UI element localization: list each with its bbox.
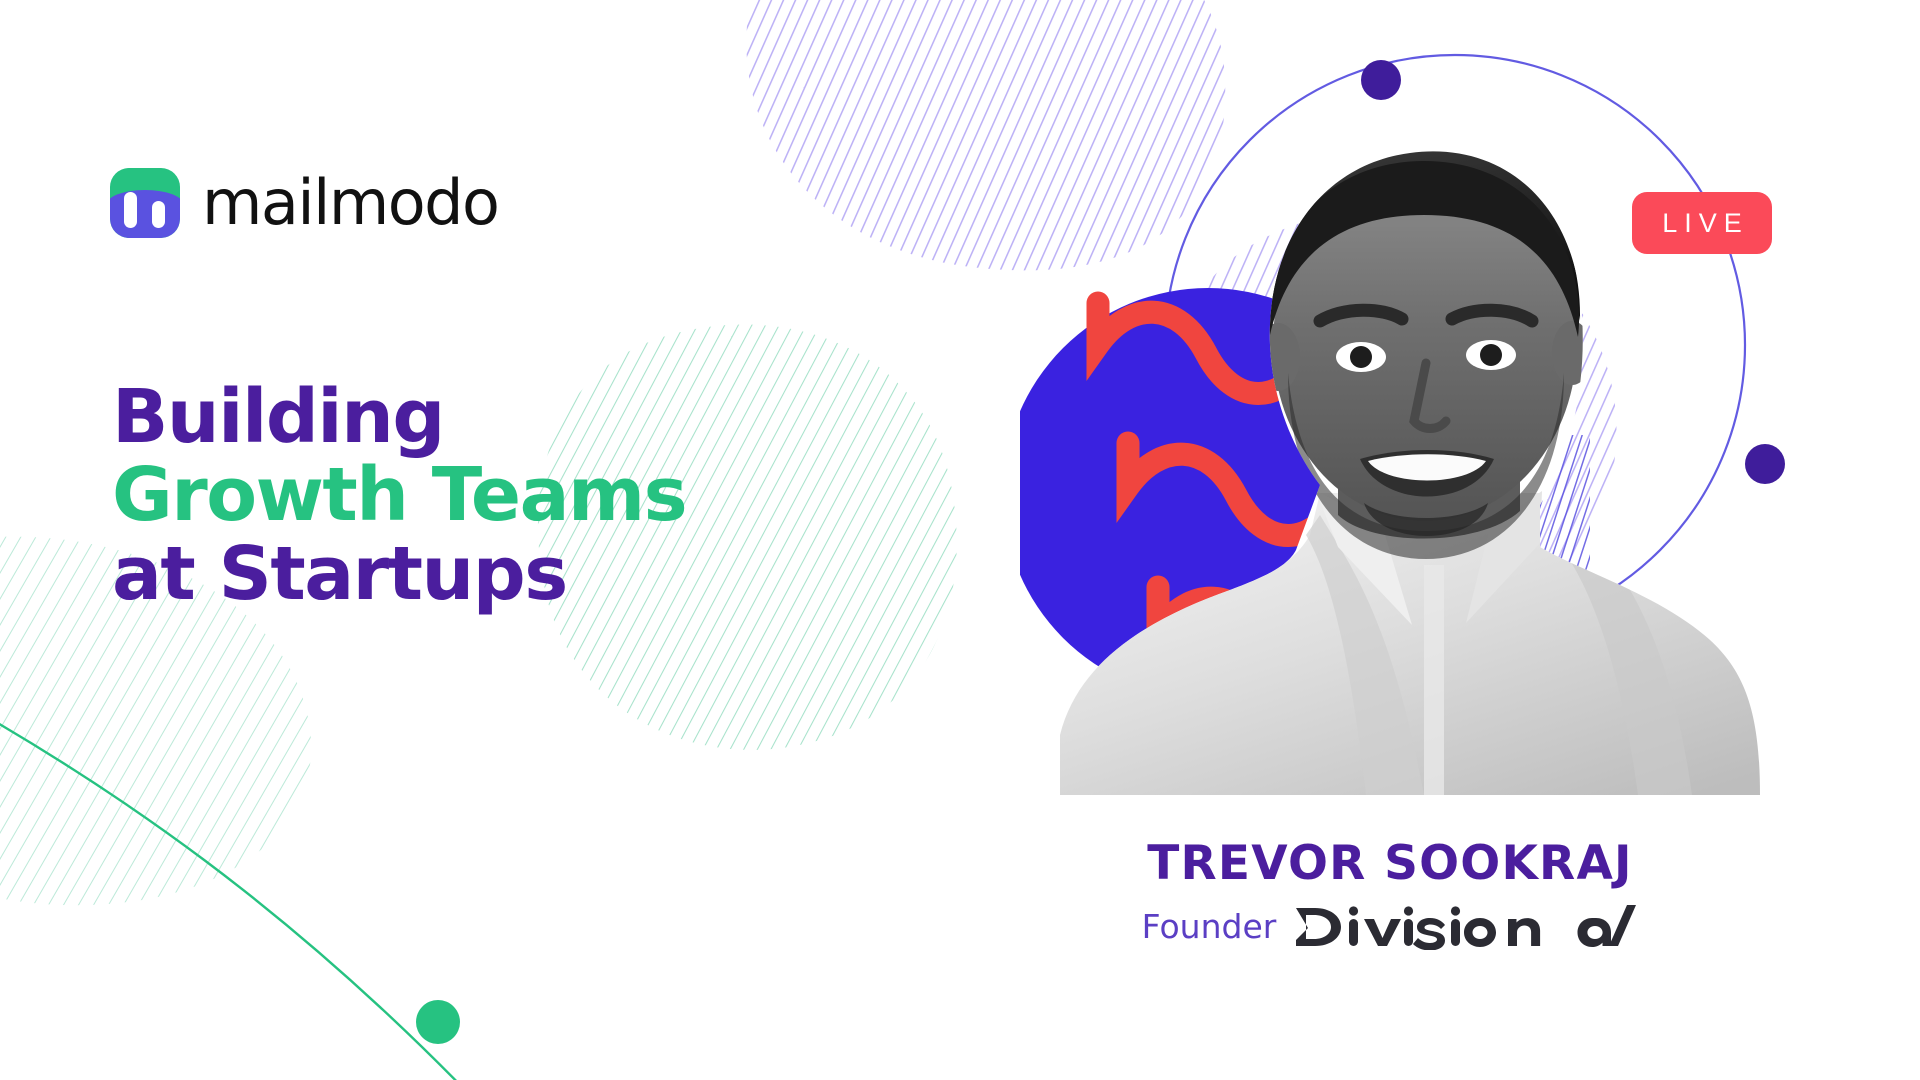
headline-line-1: Building	[112, 378, 932, 456]
live-badge-label: LIVE	[1655, 208, 1749, 239]
divisional-logo-mark-tail	[1506, 904, 1638, 950]
speaker-info: TREVOR SOOKRAJ Founder	[1020, 838, 1760, 950]
divisional-logo	[1294, 904, 1638, 950]
speaker-role: Founder	[1142, 907, 1277, 946]
speaker-role-row: Founder	[1020, 904, 1760, 950]
teal-arc-bottom-left	[0, 690, 470, 1080]
webinar-banner: mailmodo Building Growth Teams at Startu…	[0, 0, 1920, 1080]
purple-dot-top	[1361, 60, 1401, 100]
mailmodo-logo[interactable]: mailmodo	[110, 168, 498, 238]
mailmodo-wordmark: mailmodo	[202, 172, 498, 234]
divisional-logo-mark	[1294, 904, 1506, 950]
headline-line-2: Growth Teams	[112, 456, 932, 534]
headline: Building Growth Teams at Startups	[112, 378, 932, 613]
headline-line-3: at Startups	[112, 535, 932, 613]
mailmodo-logo-icon	[110, 168, 180, 238]
teal-dot-bottom-left	[416, 1000, 460, 1044]
speaker-name: TREVOR SOOKRAJ	[1020, 838, 1760, 890]
live-badge: LIVE	[1632, 192, 1772, 254]
